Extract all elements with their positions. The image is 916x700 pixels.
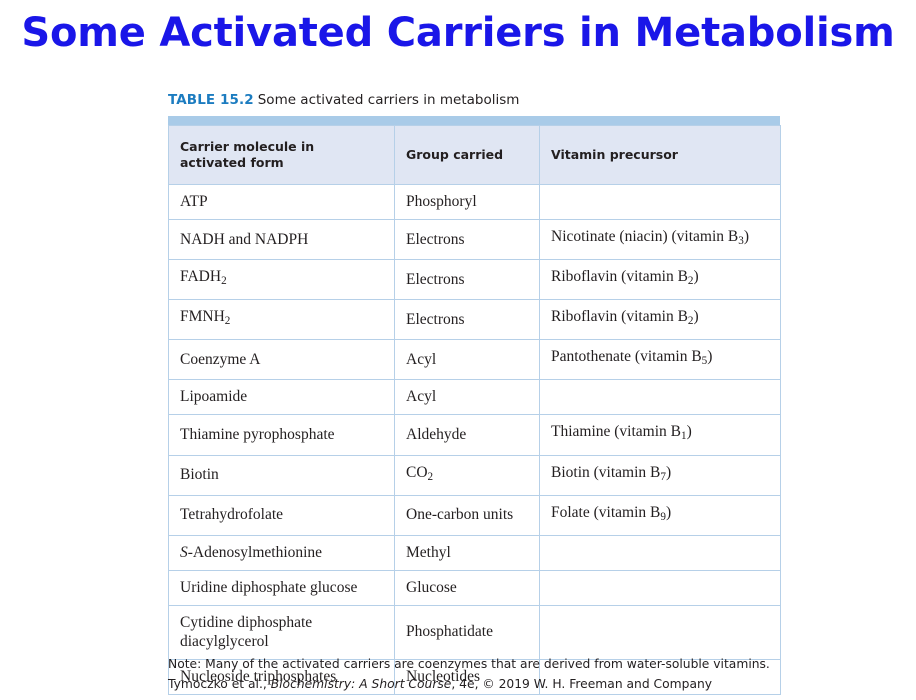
cell-carrier: FMNH2 [169,300,395,340]
cell-vitamin: Nicotinate (niacin) (vitamin B3) [540,220,781,260]
cell-carrier: FADH2 [169,260,395,300]
cell-group: Electrons [395,300,540,340]
cell-group: Electrons [395,220,540,260]
cell-vitamin: Biotin (vitamin B7) [540,455,781,495]
cell-group: Acyl [395,340,540,380]
cell-vitamin [540,605,781,659]
cell-vitamin: Riboflavin (vitamin B2) [540,300,781,340]
cell-carrier: Tetrahydrofolate [169,495,395,535]
table-row: Thiamine pyrophosphateAldehydeThiamine (… [169,415,781,455]
table-number-label: TABLE 15.2 [168,92,254,108]
cell-vitamin [540,185,781,220]
table-row: FMNH2ElectronsRiboflavin (vitamin B2) [169,300,781,340]
column-header-carrier: Carrier molecule in activated form [169,126,395,185]
cell-group: Phosphoryl [395,185,540,220]
cell-carrier: NADH and NADPH [169,220,395,260]
cell-carrier: Uridine diphosphate glucose [169,570,395,605]
cell-vitamin [540,570,781,605]
table-row: ATPPhosphoryl [169,185,781,220]
cell-group: Aldehyde [395,415,540,455]
cell-group: Electrons [395,260,540,300]
table-row: TetrahydrofolateOne-carbon unitsFolate (… [169,495,781,535]
activated-carriers-table: Carrier molecule in activated form Group… [168,125,781,695]
table-row: FADH2ElectronsRiboflavin (vitamin B2) [169,260,781,300]
cell-carrier: Cytidine diphosphate diacylglycerol [169,605,395,659]
table-row: NADH and NADPHElectronsNicotinate (niaci… [169,220,781,260]
cell-carrier: Thiamine pyrophosphate [169,415,395,455]
cell-group: Acyl [395,380,540,415]
cell-group: One-carbon units [395,495,540,535]
cell-vitamin: Pantothenate (vitamin B5) [540,340,781,380]
column-header-group: Group carried [395,126,540,185]
table-row: Cytidine diphosphate diacylglycerolPhosp… [169,605,781,659]
cell-vitamin [540,535,781,570]
table-note: Note: Many of the activated carriers are… [168,655,808,673]
column-header-carrier-line2: activated form [180,155,284,170]
cell-vitamin: Thiamine (vitamin B1) [540,415,781,455]
cell-carrier: Biotin [169,455,395,495]
column-header-vitamin: Vitamin precursor [540,126,781,185]
page-title: Some Activated Carriers in Metabolism [0,8,916,58]
cell-group: Glucose [395,570,540,605]
table-row: Uridine diphosphate glucoseGlucose [169,570,781,605]
table-caption-text: Some activated carriers in metabolism [258,92,520,108]
cell-vitamin: Riboflavin (vitamin B2) [540,260,781,300]
column-header-carrier-line1: Carrier molecule in [180,139,314,154]
table-row: S-AdenosylmethionineMethyl [169,535,781,570]
table-caption: TABLE 15.2Some activated carriers in met… [168,90,780,110]
table-body: ATPPhosphorylNADH and NADPHElectronsNico… [169,185,781,695]
table-row: Coenzyme AAcylPantothenate (vitamin B5) [169,340,781,380]
table-top-band [168,116,780,125]
cell-carrier: Lipoamide [169,380,395,415]
cell-carrier: ATP [169,185,395,220]
table-row: BiotinCO2Biotin (vitamin B7) [169,455,781,495]
cell-group: CO2 [395,455,540,495]
cell-vitamin: Folate (vitamin B9) [540,495,781,535]
cell-carrier: S-Adenosylmethionine [169,535,395,570]
table-header-row: Carrier molecule in activated form Group… [169,126,781,185]
cell-group: Methyl [395,535,540,570]
table-row: LipoamideAcyl [169,380,781,415]
table-block: TABLE 15.2Some activated carriers in met… [168,90,780,695]
footnotes: Note: Many of the activated carriers are… [168,655,808,693]
table-source: Tymoczko et al., Biochemistry: A Short C… [168,675,808,693]
cell-vitamin [540,380,781,415]
source-suffix: , 4e, © 2019 W. H. Freeman and Company [451,677,712,691]
cell-group: Phosphatidate [395,605,540,659]
source-book-title: Biochemistry: A Short Course [271,677,452,691]
cell-carrier: Coenzyme A [169,340,395,380]
source-prefix: Tymoczko et al., [168,677,271,691]
